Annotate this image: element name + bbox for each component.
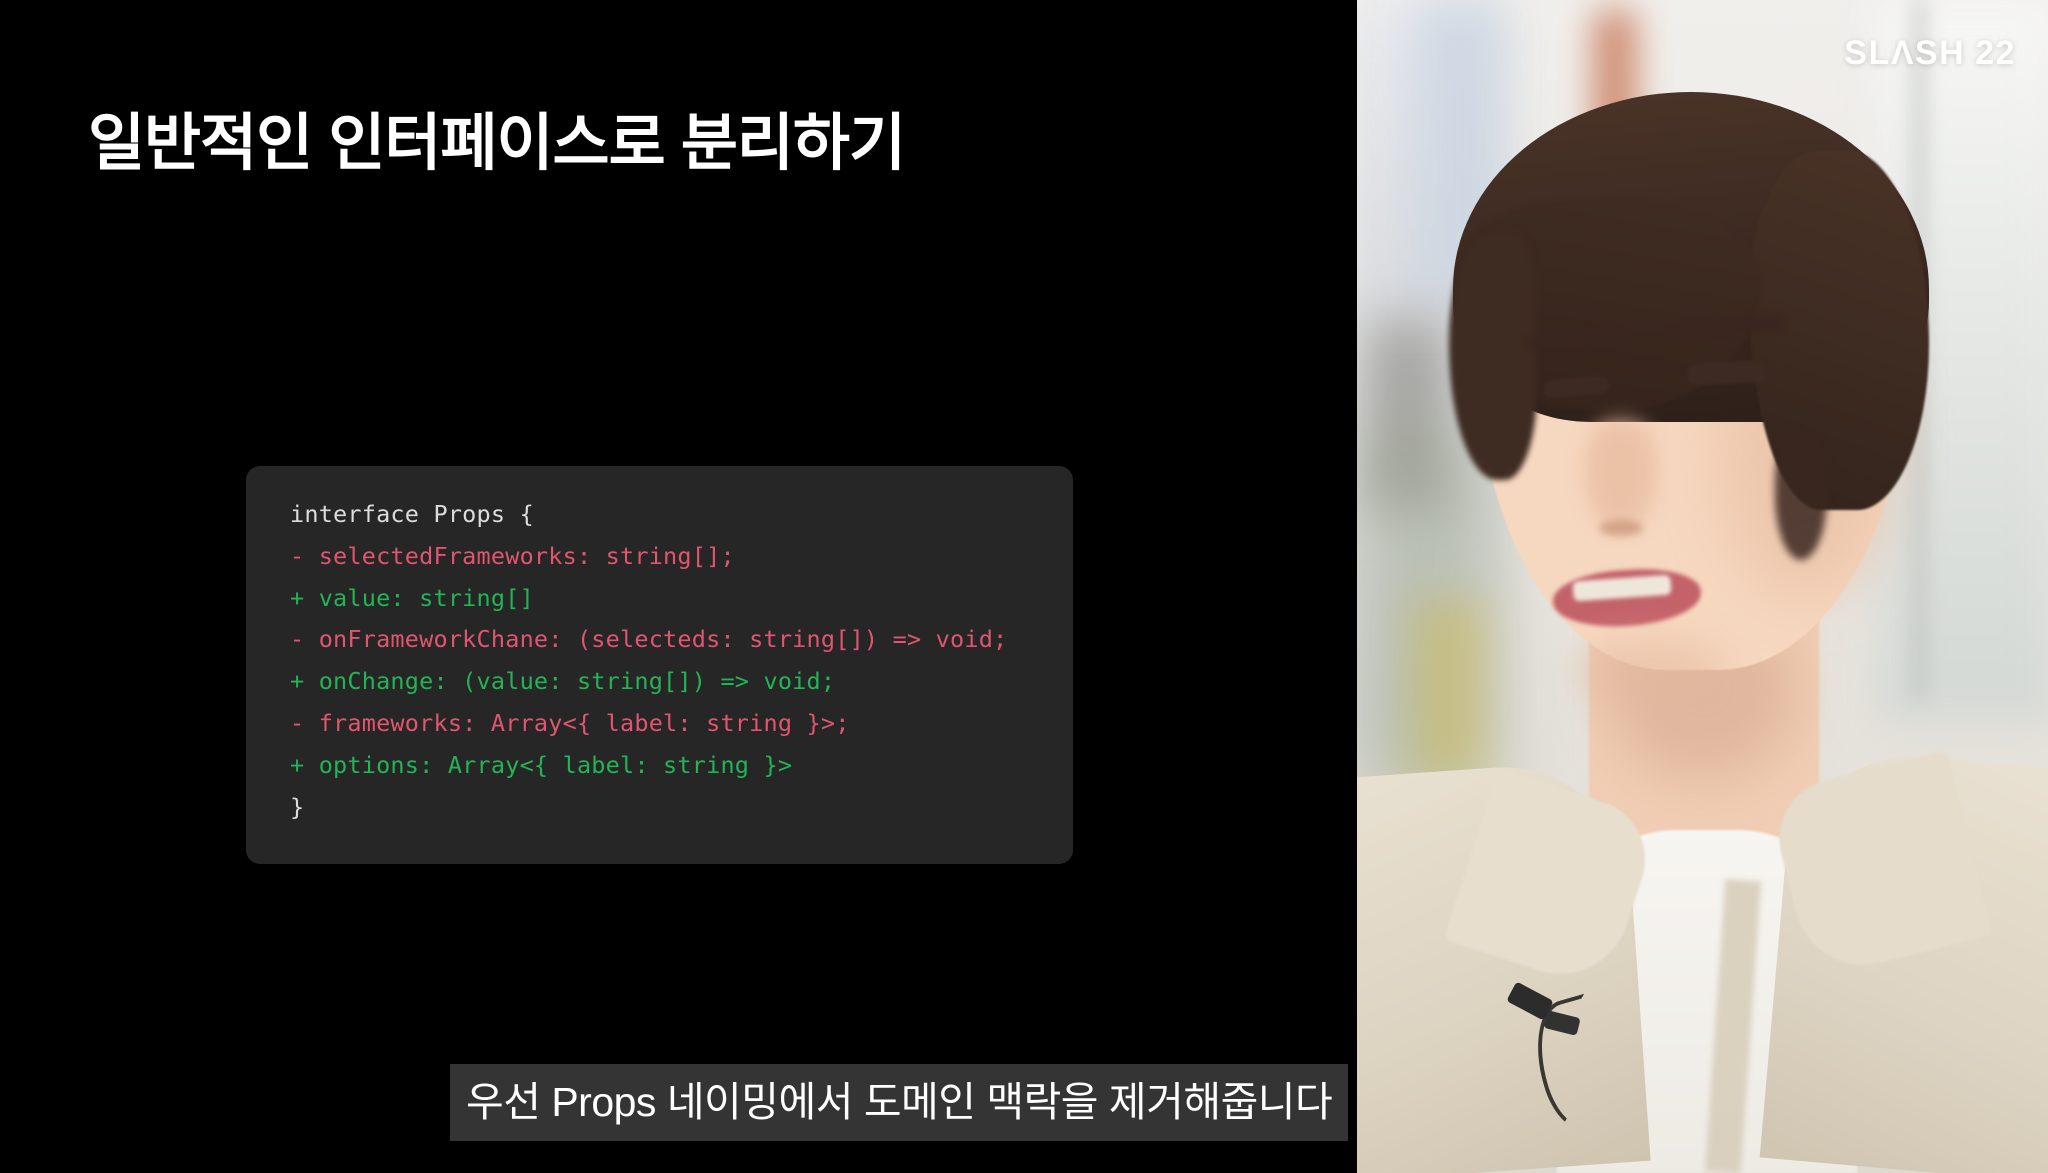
subject-sideburn [1775, 430, 1827, 560]
subject-chin-shading [1577, 640, 1727, 700]
code-line-removed: - onFrameworkChane: (selecteds: string[]… [290, 619, 1073, 661]
video-feed: SL ΛSH 22 [1357, 0, 2048, 1173]
code-block: interface Props { - selectedFrameworks: … [246, 466, 1073, 864]
logo-text-ash: ΛSH [1891, 36, 1965, 70]
subject-nose [1585, 420, 1657, 530]
presentation-slide: 일반적인 인터페이스로 분리하기 interface Props { - sel… [0, 0, 1357, 1173]
slide-video-composite: 일반적인 인터페이스로 분리하기 interface Props { - sel… [0, 0, 2048, 1173]
logo-text-sl: SL [1844, 36, 1890, 70]
code-line-added: + options: Array<{ label: string }> [290, 745, 1073, 787]
code-line-added: + onChange: (value: string[]) => void; [290, 661, 1073, 703]
code-line: } [290, 787, 1073, 829]
subject-nostril [1599, 520, 1643, 536]
subtitle-text: 우선 Props 네이밍에서 도메인 맥락을 제거해줍니다 [466, 1082, 1332, 1123]
subtitle-bar: 우선 Props 네이밍에서 도메인 맥락을 제거해줍니다 [450, 1064, 1348, 1141]
logo-text-year: 22 [1975, 36, 2016, 70]
code-line-added: + value: string[] [290, 578, 1073, 620]
code-line: interface Props { [290, 494, 1073, 536]
page-title: 일반적인 인터페이스로 분리하기 [88, 108, 905, 179]
code-line-removed: - frameworks: Array<{ label: string }>; [290, 703, 1073, 745]
code-line-removed: - selectedFrameworks: string[]; [290, 536, 1073, 578]
slash-22-logo: SL ΛSH 22 [1844, 36, 2016, 70]
subject-eye-right [1686, 360, 1767, 386]
